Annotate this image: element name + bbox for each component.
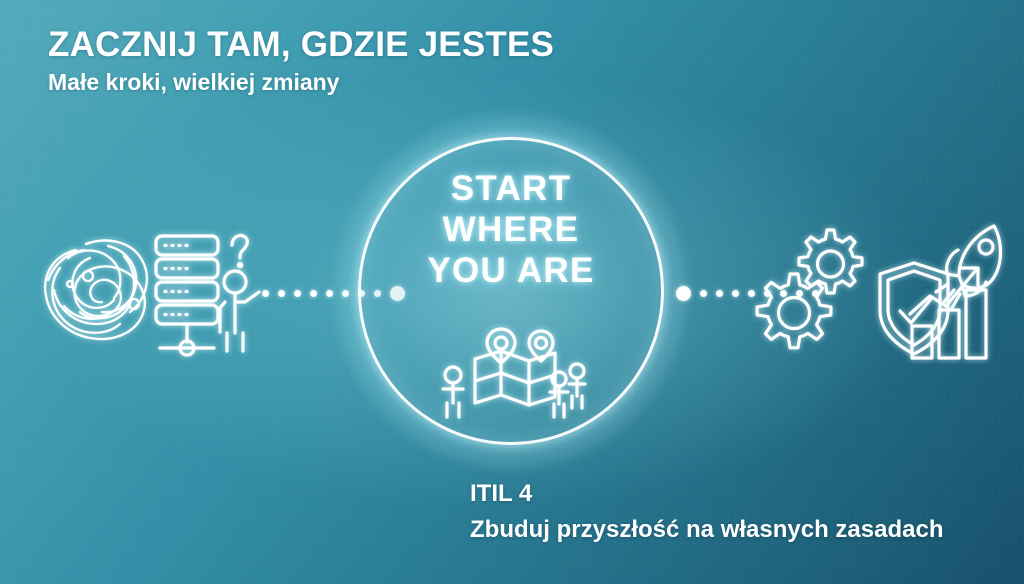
footer-subtitle: Zbuduj przyszłość na własnych zasadach (470, 516, 943, 544)
server-rack-icon (156, 236, 218, 355)
heading-block: ZACZNIJ TAM, GDZIE JESTES Małe kroki, wi… (48, 26, 554, 95)
circle-text-line-2: WHERE (358, 210, 664, 251)
circle-text-line-1: START (358, 169, 664, 210)
map-with-people-icon (431, 323, 591, 421)
circle-text-line-3: YOU ARE (358, 251, 664, 292)
gears-icon (757, 230, 862, 348)
slide-canvas: ZACZNIJ TAM, GDZIE JESTES Małe kroki, wi… (0, 0, 1024, 584)
right-icon-group (762, 218, 1012, 368)
footer-block: ITIL 4 Zbuduj przyszłość na własnych zas… (470, 480, 943, 543)
person-question-icon (220, 235, 259, 351)
page-title: ZACZNIJ TAM, GDZIE JESTES (48, 26, 554, 63)
connector-dot (732, 290, 739, 297)
connector-dot-large (676, 286, 691, 301)
connector-dot (294, 290, 301, 297)
page-subtitle: Małe kroki, wielkiej zmiany (48, 70, 554, 95)
central-circle: START WHERE YOU ARE (358, 137, 664, 445)
connector-dot (700, 290, 707, 297)
connector-dot (262, 290, 269, 297)
circle-text-block: START WHERE YOU ARE (358, 169, 664, 292)
left-icon-group (24, 222, 274, 367)
connector-dot (326, 290, 333, 297)
connector-dot (716, 290, 723, 297)
connector-dot (278, 290, 285, 297)
tangled-scribble-icon (45, 241, 147, 339)
connector-dot (310, 290, 317, 297)
footer-title: ITIL 4 (470, 480, 943, 508)
connector-dot (748, 290, 755, 297)
